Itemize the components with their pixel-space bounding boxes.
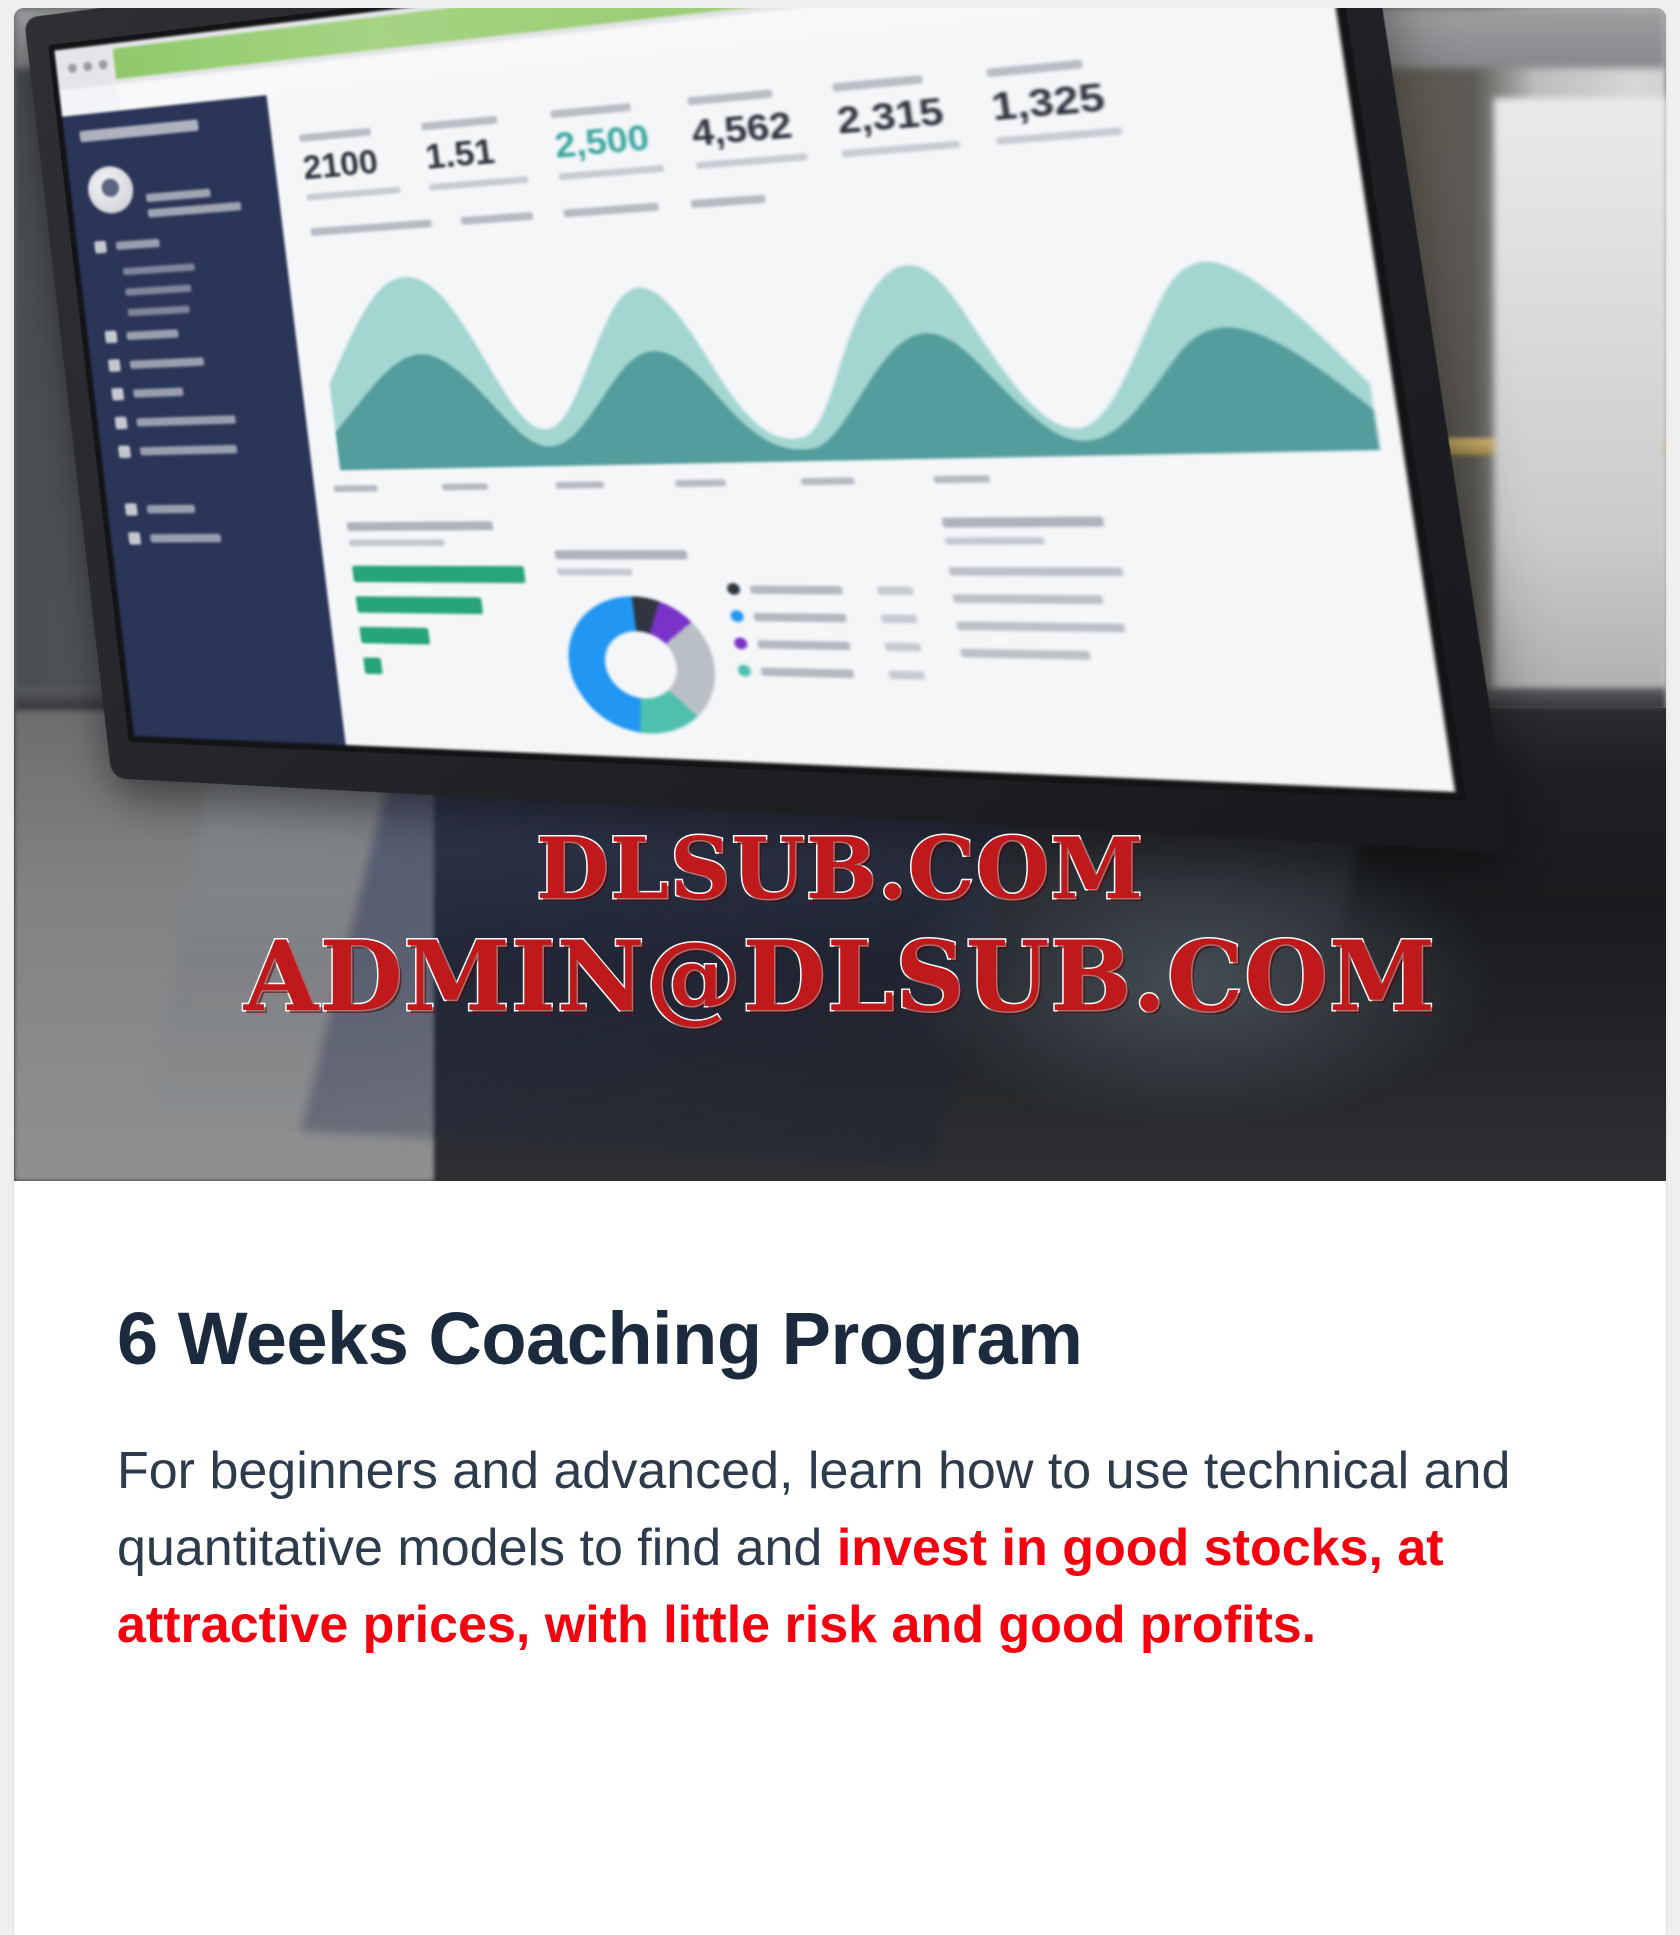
page-root: 2100 1.51 <box>0 0 1680 1935</box>
gear-icon <box>125 503 138 516</box>
bar <box>363 657 383 674</box>
user-role <box>147 202 241 218</box>
legend-item <box>730 610 918 624</box>
legend-item <box>726 583 913 596</box>
sidebar-item-sales[interactable] <box>111 381 303 401</box>
kpi-card: 1.51 <box>421 114 528 191</box>
dashboard-widgets <box>315 476 1451 763</box>
x-tick <box>333 485 377 492</box>
reflection-glow <box>884 828 1504 1128</box>
window-controls[interactable] <box>68 60 108 74</box>
page-title: 6 Weeks Coaching Program <box>117 1296 1666 1381</box>
area-chart-svg <box>314 185 1382 481</box>
donut-legend <box>718 518 928 697</box>
bar <box>356 596 484 614</box>
widget-subtitle <box>557 568 633 575</box>
list-item <box>949 567 1124 576</box>
legend-swatch <box>737 665 751 677</box>
user-info <box>146 186 243 225</box>
x-tick <box>442 483 489 490</box>
performance-icon <box>115 417 128 430</box>
kpi-value: 2,315 <box>835 92 958 140</box>
reports-icon <box>105 330 118 343</box>
tab-overview[interactable] <box>311 219 433 235</box>
kpi-label <box>550 103 631 118</box>
program-card: 2100 1.51 <box>14 8 1666 1935</box>
program-description: For beginners and advanced, learn how to… <box>117 1433 1517 1664</box>
widget-title <box>347 521 494 531</box>
dashboard-nav <box>77 227 321 544</box>
legend-swatch <box>730 610 744 622</box>
kpi-card: 1,325 <box>986 57 1122 145</box>
kpi-label <box>687 89 773 105</box>
laptop-lid: 2100 1.51 <box>24 8 1512 852</box>
legend-swatch <box>734 637 748 649</box>
sidebar-subitem-2[interactable] <box>125 284 191 295</box>
kpi-label <box>299 128 371 142</box>
screen-bezel: 2100 1.51 <box>48 8 1466 801</box>
kpi-value: 4,562 <box>690 106 806 152</box>
kpi-card: 2,500 <box>550 101 664 181</box>
widget-title <box>942 516 1105 527</box>
kpi-card: 2,315 <box>832 72 960 157</box>
window-close-dot[interactable] <box>68 63 78 73</box>
sidebar-subitem-3[interactable] <box>127 306 190 317</box>
legend-item <box>737 665 925 681</box>
sidebar-item-landing-pages[interactable] <box>118 441 310 458</box>
kpi-value: 2,500 <box>553 119 662 163</box>
bar <box>359 627 430 645</box>
home-icon <box>94 241 107 254</box>
sidebar-subitem-1[interactable] <box>123 263 195 275</box>
x-tick <box>555 481 604 489</box>
window-minimize-dot[interactable] <box>83 61 93 71</box>
avatar <box>86 164 136 215</box>
analytics-icon <box>108 359 121 372</box>
x-tick <box>801 477 855 485</box>
widget-donut-chart <box>551 518 934 744</box>
user-icon <box>128 532 141 544</box>
widget-title <box>555 550 688 559</box>
kpi-label <box>986 60 1083 78</box>
widget-bar-chart <box>347 521 545 730</box>
kpi-label <box>421 116 497 131</box>
list-rows <box>949 567 1136 661</box>
sidebar-item-settings[interactable] <box>125 501 318 516</box>
sidebar-item-account[interactable] <box>128 531 321 544</box>
pages-icon <box>118 445 131 458</box>
window-maximize-dot[interactable] <box>98 60 108 70</box>
kpi-label <box>832 75 923 92</box>
widget-list <box>942 516 1149 752</box>
bar <box>352 566 526 583</box>
list-item <box>952 594 1103 604</box>
legend-item <box>734 637 922 652</box>
list-item <box>956 621 1125 632</box>
sidebar-item-analytics[interactable] <box>108 351 299 372</box>
kpi-value: 2100 <box>301 143 399 185</box>
sidebar-item-home[interactable] <box>94 227 284 253</box>
card-content: 6 Weeks Coaching Program For beginners a… <box>14 1181 1666 1664</box>
sales-icon <box>111 388 124 401</box>
dashboard-logo <box>79 119 199 142</box>
sidebar-item-reports[interactable] <box>105 321 296 343</box>
user-name <box>146 189 211 203</box>
kpi-card: 2100 <box>299 126 401 201</box>
tab-revenue[interactable] <box>691 195 766 209</box>
legend-swatch <box>726 583 740 595</box>
donut-chart <box>560 596 723 736</box>
widget-subtitle <box>349 539 445 546</box>
tab-traffic[interactable] <box>461 212 534 225</box>
laptop: 2100 1.51 <box>24 18 1444 818</box>
list-item <box>960 649 1091 660</box>
kpi-value: 1.51 <box>423 131 526 174</box>
horizontal-bars <box>352 566 538 679</box>
sidebar-item-performance[interactable] <box>115 411 307 430</box>
dashboard-main: 2100 1.51 <box>266 8 1455 792</box>
tab-conversions[interactable] <box>563 203 659 218</box>
area-chart <box>314 185 1382 481</box>
x-tick <box>675 479 726 487</box>
kpi-card: 4,562 <box>687 87 808 169</box>
kpi-value: 1,325 <box>989 77 1120 127</box>
hero-image: 2100 1.51 <box>14 8 1666 1181</box>
widget-subtitle <box>944 537 1045 545</box>
x-tick <box>933 475 990 483</box>
back-wall <box>1494 98 1666 718</box>
laptop-screen: 2100 1.51 <box>54 8 1455 792</box>
